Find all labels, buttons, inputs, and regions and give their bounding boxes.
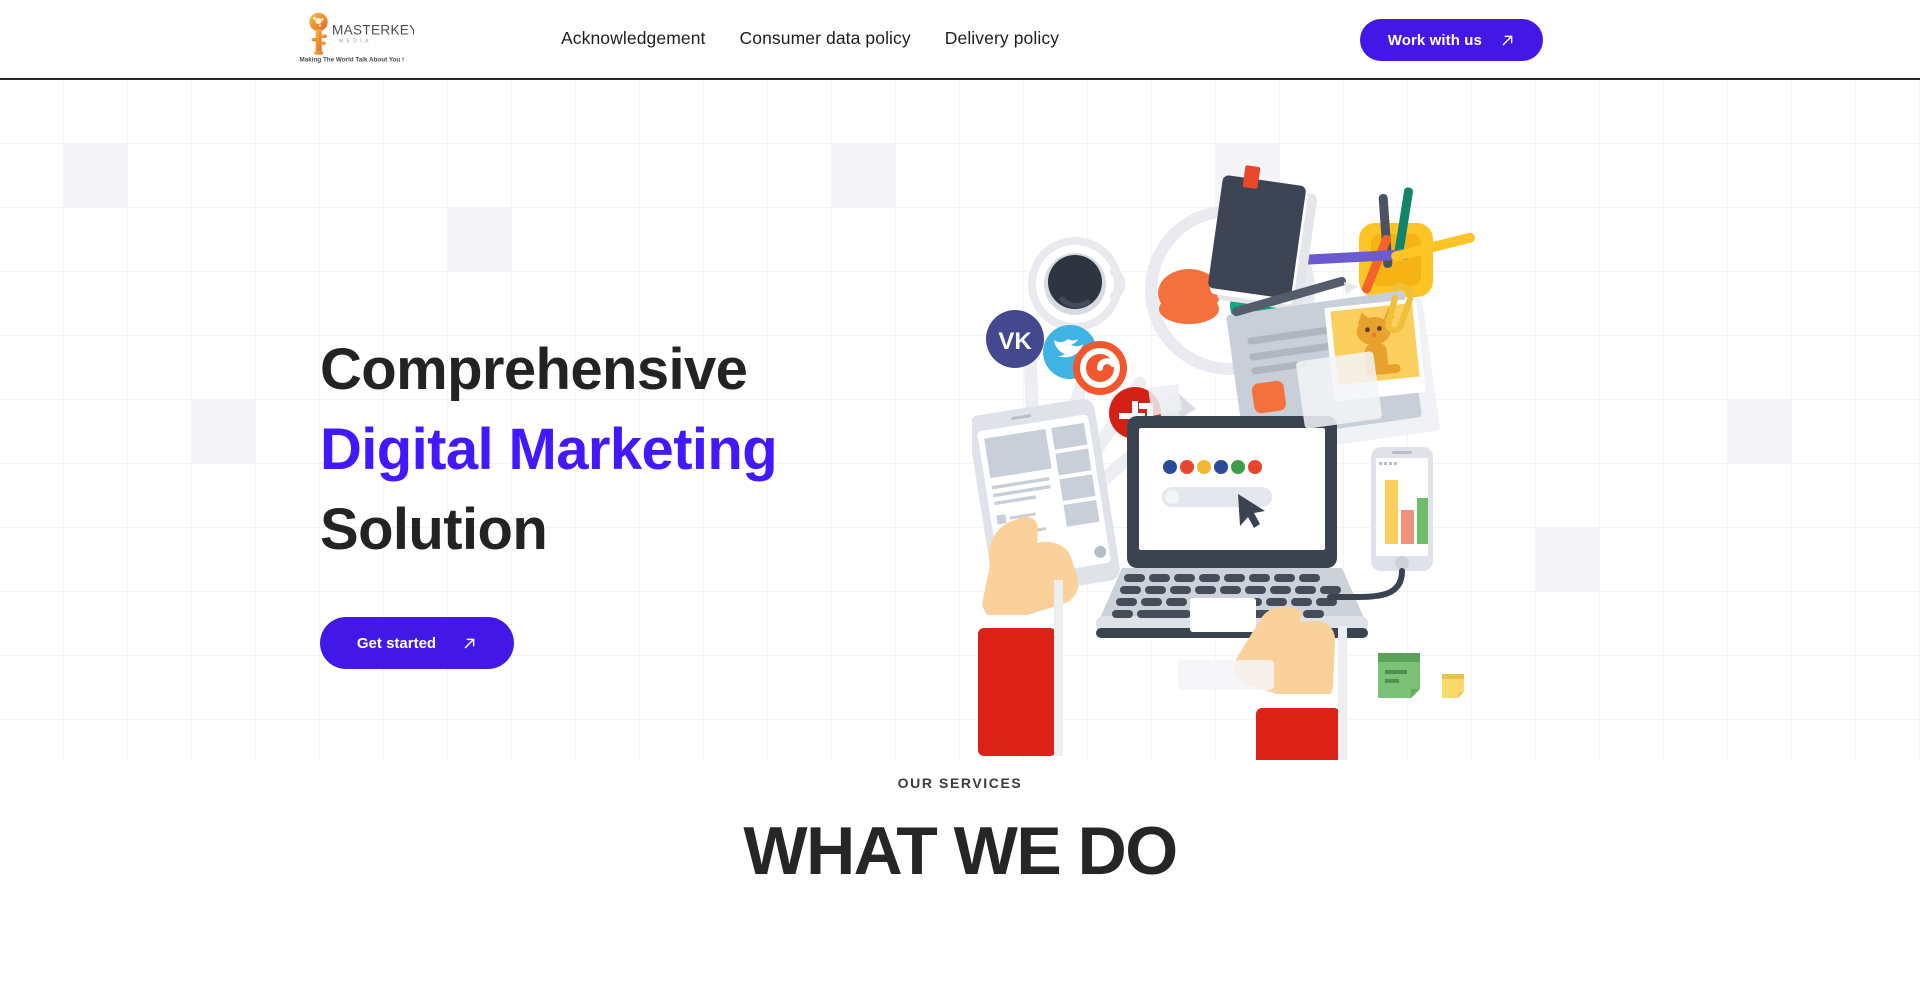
illustration-svg: VK xyxy=(972,160,1532,760)
green-sticky-note xyxy=(1378,653,1420,698)
hero-headline: Comprehensive Digital Marketing Solution xyxy=(320,330,960,570)
arrow-up-right-icon xyxy=(1500,33,1515,48)
main-nav: Acknowledgement Consumer data policy Del… xyxy=(559,0,1061,78)
headline-line-3: Solution xyxy=(320,490,960,570)
laptop-device xyxy=(1096,416,1368,638)
social-badge-vk: VK xyxy=(986,310,1044,368)
svg-text:Making The World Talk About Yo: Making The World Talk About You ! xyxy=(300,57,405,64)
work-with-us-label: Work with us xyxy=(1388,32,1482,49)
laptop-dot-3 xyxy=(1197,460,1211,474)
nav-item-consumer-data-policy[interactable]: Consumer data policy xyxy=(738,24,913,54)
work-with-us-button[interactable]: Work with us xyxy=(1360,19,1543,61)
svg-text:MEDIA: MEDIA xyxy=(339,39,372,45)
hero-copy: Comprehensive Digital Marketing Solution… xyxy=(320,330,960,669)
hero-section: Comprehensive Digital Marketing Solution… xyxy=(0,80,1920,760)
smartphone-bar-chart xyxy=(1330,447,1433,597)
nav-item-acknowledgement[interactable]: Acknowledgement xyxy=(559,24,708,54)
svg-text:MASTERKEY: MASTERKEY xyxy=(332,23,414,38)
social-badge-pinterest xyxy=(1073,341,1127,395)
get-started-button[interactable]: Get started xyxy=(320,617,514,669)
yellow-sticky-note xyxy=(1442,674,1464,698)
phone-bar-3 xyxy=(1417,498,1428,544)
headline-line-2: Digital Marketing xyxy=(320,410,960,490)
laptop-dot-2 xyxy=(1180,460,1194,474)
laptop-trackpad xyxy=(1190,598,1256,632)
svg-text:VK: VK xyxy=(998,328,1032,355)
key-logo-icon: MASTERKEY MEDIA Making The World Talk Ab… xyxy=(299,10,414,68)
phone-bar-2 xyxy=(1401,510,1414,544)
laptop-dot-1 xyxy=(1163,460,1177,474)
left-hand xyxy=(978,517,1078,756)
laptop-dot-6 xyxy=(1248,460,1262,474)
phone-bar-1 xyxy=(1385,480,1398,544)
section-eyebrow: OUR SERVICES xyxy=(0,775,1920,791)
nav-item-delivery-policy[interactable]: Delivery policy xyxy=(943,24,1061,54)
laptop-dot-4 xyxy=(1214,460,1228,474)
coffee-cup-icon xyxy=(1028,237,1122,331)
headline-line-1: Comprehensive xyxy=(320,330,960,410)
section-title: WHAT WE DO xyxy=(0,816,1920,887)
digital-marketing-desk-illustration: VK xyxy=(972,160,1532,760)
laptop-dot-5 xyxy=(1231,460,1245,474)
arrow-up-right-icon xyxy=(462,636,477,651)
services-section: OUR SERVICES WHAT WE DO xyxy=(0,760,1920,887)
site-logo[interactable]: MASTERKEY MEDIA Making The World Talk Ab… xyxy=(299,10,414,68)
site-header: MASTERKEY MEDIA Making The World Talk Ab… xyxy=(0,0,1920,80)
get-started-label: Get started xyxy=(357,635,436,652)
